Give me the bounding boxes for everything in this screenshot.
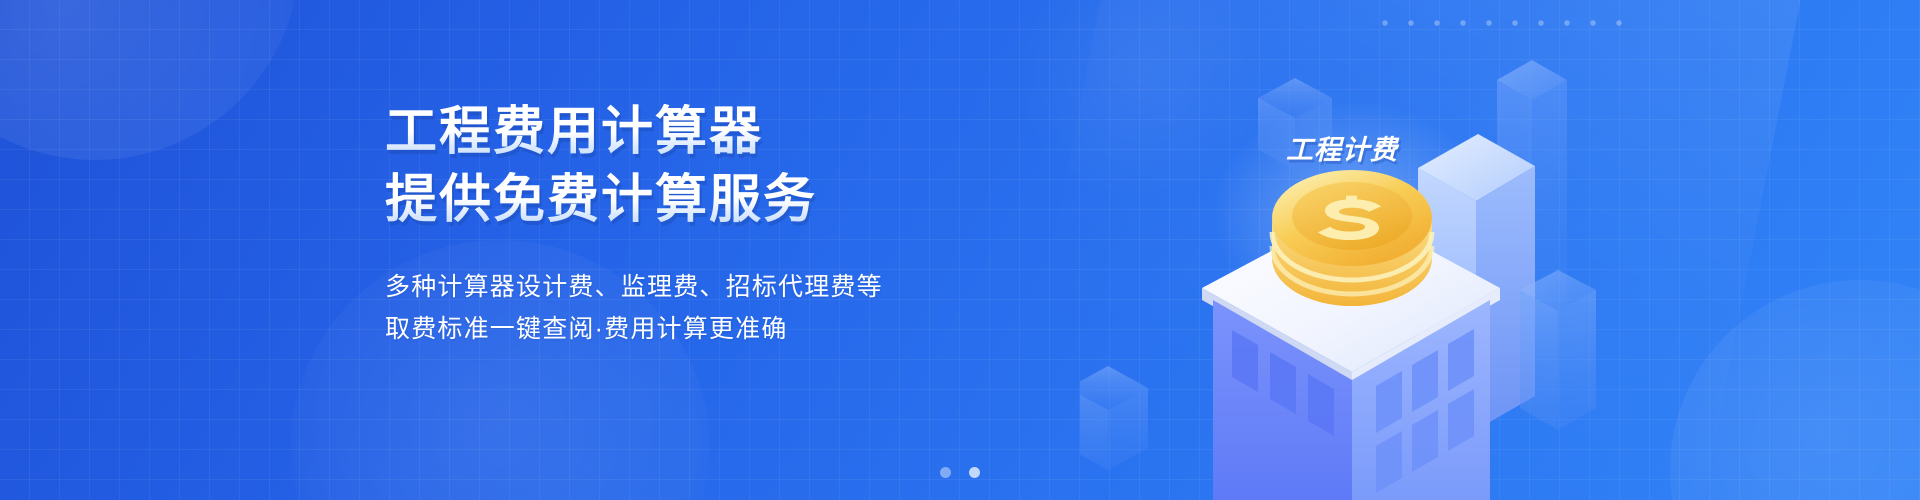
decor-circle-top-left [0, 0, 300, 160]
hero-illustration [1080, 0, 1700, 500]
carousel-pagination [0, 467, 1920, 478]
carousel-dot-1[interactable] [940, 467, 951, 478]
hero-subtitle-block: 多种计算器设计费、监理费、招标代理费等 取费标准一键查阅·费用计算更准确 [385, 266, 1025, 350]
carousel-dot-2[interactable] [969, 467, 980, 478]
hero-subtitle-line-2: 取费标准一键查阅·费用计算更准确 [385, 308, 1025, 350]
hero-copy-block: 工程费用计算器 提供免费计算服务 多种计算器设计费、监理费、招标代理费等 取费标… [385, 104, 1025, 350]
page-title-line-1: 工程费用计算器 [385, 104, 1025, 160]
cube-small-lower [1080, 366, 1148, 470]
hero-subtitle-line-1: 多种计算器设计费、监理费、招标代理费等 [385, 266, 1025, 308]
page-title-line-2: 提供免费计算服务 [385, 172, 1025, 228]
illustration-badge-label: 工程计费 [1286, 128, 1398, 167]
hero-banner: 工程计费 工程费用计算器 提供免费计算服务 多种计算器设计费、监理费、招标代理费… [0, 0, 1920, 500]
bar-short [1520, 270, 1596, 430]
coin-stack-icon [1272, 170, 1432, 306]
